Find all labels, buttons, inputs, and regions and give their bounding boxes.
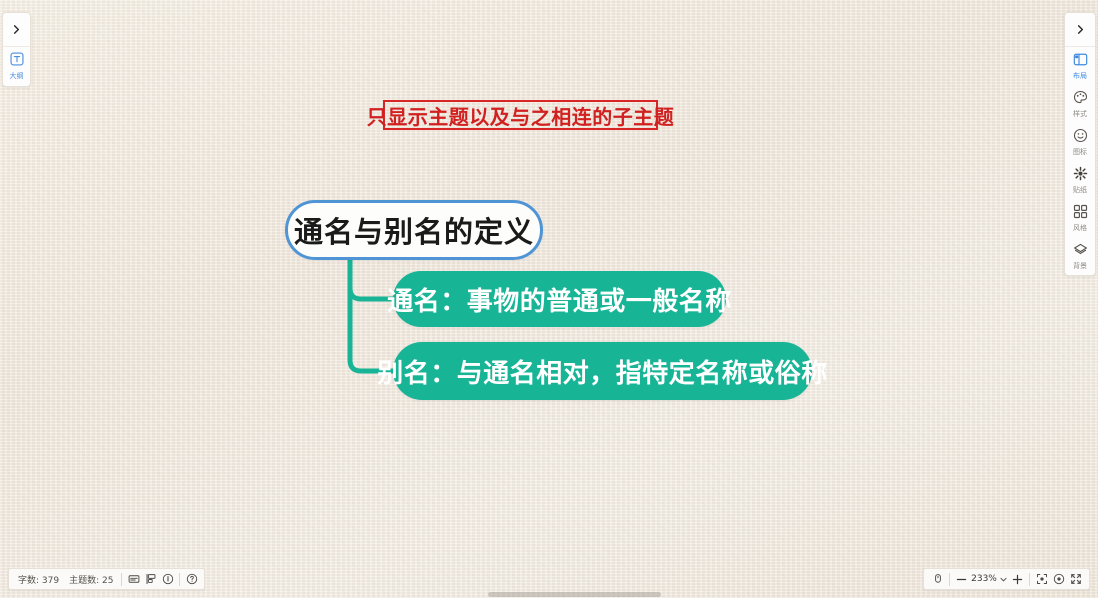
mouse-pointer-icon[interactable] xyxy=(929,571,946,588)
zoom-out-button[interactable] xyxy=(953,571,970,588)
sidebar-item-label: 风格 xyxy=(1073,225,1087,232)
sidebar-item-sticker[interactable]: 贴纸 xyxy=(1065,161,1095,199)
outline-text-icon xyxy=(10,52,24,71)
right-panel-expand-button[interactable] xyxy=(1065,13,1095,47)
chevron-right-icon xyxy=(11,24,22,35)
topic-count-label: 主题数: 25 xyxy=(64,573,118,586)
sidebar-item-background[interactable]: 背景 xyxy=(1065,237,1095,275)
word-count-label: 字数: 379 xyxy=(13,573,64,586)
layers-icon xyxy=(1073,242,1088,262)
chevron-right-icon xyxy=(1075,24,1086,35)
divider xyxy=(1029,573,1030,586)
divider xyxy=(121,573,122,586)
flag-layout-icon[interactable] xyxy=(142,571,159,588)
annotation-callout: 只显示主题以及与之相连的子主题 xyxy=(383,100,658,130)
horizontal-scrollbar[interactable] xyxy=(488,592,661,597)
divider xyxy=(949,573,950,586)
sidebar-item-label: 背景 xyxy=(1073,263,1087,270)
layout-icon xyxy=(1073,52,1088,72)
zoom-in-button[interactable] xyxy=(1009,571,1026,588)
help-icon[interactable] xyxy=(183,571,200,588)
sidebar-item-outline[interactable]: 大纲 xyxy=(3,47,30,86)
sticker-icon xyxy=(1073,166,1088,186)
palette-icon xyxy=(1073,90,1088,110)
chevron-down-icon[interactable] xyxy=(998,571,1009,588)
mindmap-canvas[interactable]: 只显示主题以及与之相连的子主题 通名与别名的定义 通名：事物的普通或一般名称 别… xyxy=(0,0,1098,598)
sidebar-item-label: 样式 xyxy=(1073,111,1087,118)
fit-screen-icon[interactable] xyxy=(1033,571,1050,588)
sidebar-item-label: 布局 xyxy=(1073,73,1087,80)
sidebar-item-label: 大纲 xyxy=(10,73,24,80)
sidebar-item-layout[interactable]: 布局 xyxy=(1065,47,1095,85)
sidebar-item-icon[interactable]: 图标 xyxy=(1065,123,1095,161)
status-bar-left: 字数: 379 主题数: 25 xyxy=(8,568,205,590)
smiley-icon xyxy=(1073,128,1088,148)
status-bar-right: 233% xyxy=(923,568,1090,590)
left-panel-expand-button[interactable] xyxy=(3,13,30,47)
zoom-level-label[interactable]: 233% xyxy=(970,574,998,584)
sidebar-item-label: 贴纸 xyxy=(1073,187,1087,194)
right-sidebar: 布局 样式 图标 xyxy=(1064,12,1096,276)
center-target-icon[interactable] xyxy=(1050,571,1067,588)
mindmap-child-node[interactable]: 别名：与通名相对，指特定名称或俗称 xyxy=(393,342,812,400)
left-sidebar: 大纲 xyxy=(2,12,31,87)
sidebar-item-theme[interactable]: 风格 xyxy=(1065,199,1095,237)
mindmap-root-node[interactable]: 通名与别名的定义 xyxy=(285,200,543,260)
sidebar-item-style[interactable]: 样式 xyxy=(1065,85,1095,123)
fullscreen-icon[interactable] xyxy=(1067,571,1084,588)
divider xyxy=(179,573,180,586)
grid-icon xyxy=(1073,204,1088,224)
mindmap-app-window: 只显示主题以及与之相连的子主题 通名与别名的定义 通名：事物的普通或一般名称 别… xyxy=(0,0,1098,598)
info-icon[interactable] xyxy=(159,571,176,588)
sidebar-item-label: 图标 xyxy=(1073,149,1087,156)
mindmap-child-node[interactable]: 通名：事物的普通或一般名称 xyxy=(393,271,726,327)
note-icon[interactable] xyxy=(125,571,142,588)
